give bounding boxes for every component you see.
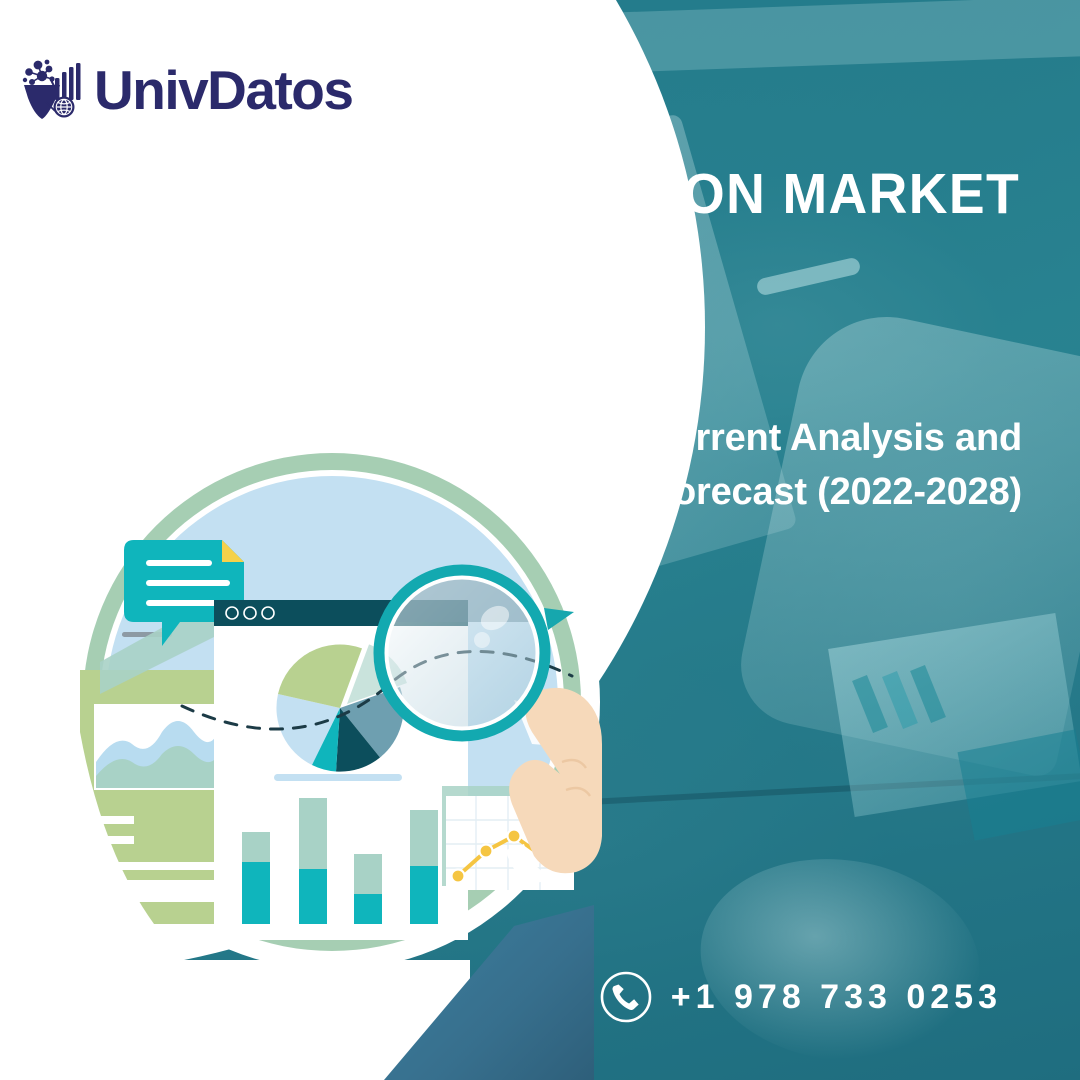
photo-paper-bar xyxy=(852,675,888,733)
bar-lower xyxy=(354,894,382,924)
contact-phone[interactable]: +1 978 733 0253 xyxy=(599,970,1002,1024)
subtitle-block: Current Analysis and Forecast (2022-2028… xyxy=(645,412,1022,520)
data-analysis-illustration xyxy=(62,432,602,972)
photo-teal-card xyxy=(958,729,1080,840)
phone-number-text: +1 978 733 0253 xyxy=(671,978,1002,1017)
document-card xyxy=(80,670,228,924)
brand-name: UnivDatos xyxy=(94,63,353,118)
subtitle-line-1: Current Analysis and xyxy=(645,412,1022,466)
document-text-line xyxy=(96,836,134,844)
document-text-line xyxy=(96,816,134,824)
photo-paper-bar xyxy=(910,665,946,723)
subtitle-line-2: Forecast (2022-2028) xyxy=(645,466,1022,520)
note-card-line xyxy=(146,560,212,566)
chart-divider xyxy=(274,774,402,781)
bar-lower xyxy=(242,862,270,924)
page-title: LIPOSUCTION MARKET xyxy=(384,165,1020,225)
photo-hand xyxy=(687,841,992,1078)
network-globe-bars-icon xyxy=(20,58,86,122)
photo-paper-bar xyxy=(882,671,918,729)
phone-icon xyxy=(599,970,653,1024)
white-left-edge xyxy=(0,0,62,1080)
bar-lower xyxy=(410,866,438,924)
photo-pen xyxy=(755,256,861,296)
note-card-line xyxy=(146,580,230,586)
lens-glare-small xyxy=(474,632,490,648)
document-field xyxy=(124,880,218,902)
magnifier xyxy=(379,570,545,736)
photo-arm-sleeve xyxy=(730,300,1080,779)
brand-logo[interactable]: UnivDatos xyxy=(20,58,353,122)
photo-report-paper xyxy=(828,613,1080,817)
document-text-line xyxy=(114,862,218,870)
poster-canvas: UnivDatos LIPOSUCTION MARKET Current Ana… xyxy=(0,0,1080,1080)
bar-lower xyxy=(299,869,327,924)
